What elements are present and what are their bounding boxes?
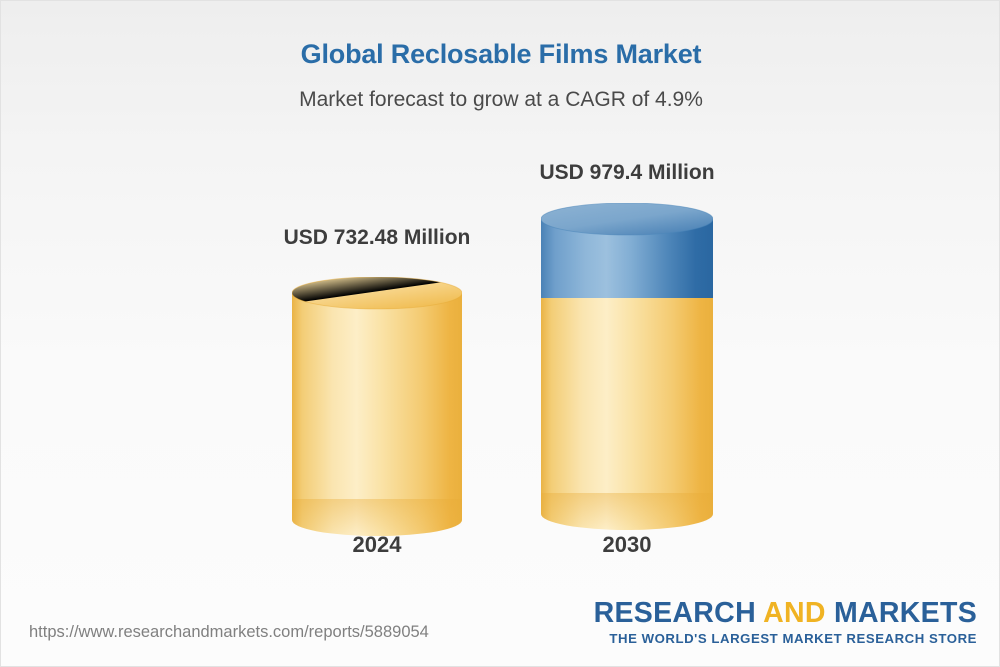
source-url[interactable]: https://www.researchandmarkets.com/repor… [29,623,429,642]
brand-name-research: RESEARCH [594,597,764,629]
brand-tagline: THE WORLD'S LARGEST MARKET RESEARCH STOR… [594,631,977,646]
brand-name-markets: MARKETS [826,597,977,629]
brand-name-and: AND [763,597,826,629]
chart-plot-area: USD 732.48 Million [1,1,1000,601]
brand-name: RESEARCH AND MARKETS [594,599,977,629]
brand-logo[interactable]: RESEARCH AND MARKETS THE WORLD'S LARGEST… [594,599,977,646]
cylinder-bar-2024[interactable] [292,277,462,539]
data-label-2024: USD 732.48 Million [284,226,471,250]
cylinder-bar-2030[interactable] [541,203,713,533]
axis-label-2030: 2030 [527,532,727,558]
data-label-2030: USD 979.4 Million [539,161,714,185]
axis-label-2024: 2024 [277,532,477,558]
infographic-canvas: Global Reclosable Films Market Market fo… [0,0,1000,667]
